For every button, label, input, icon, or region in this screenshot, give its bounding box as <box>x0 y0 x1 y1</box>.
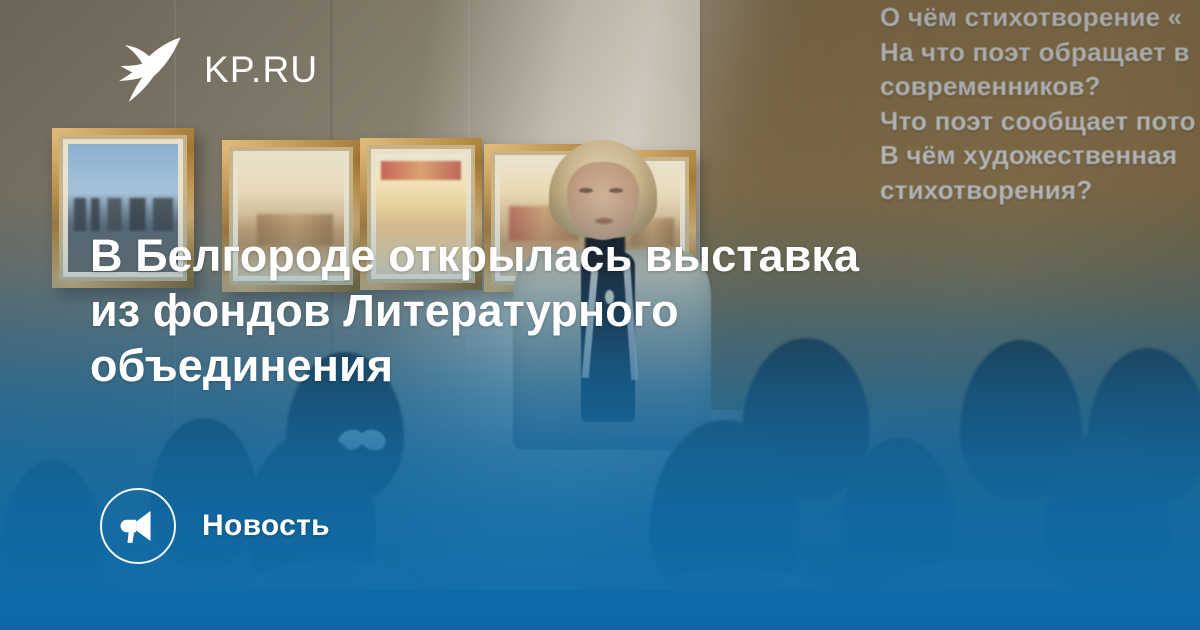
brand-name: KP.RU <box>204 51 318 88</box>
blue-bottom-band <box>0 590 1200 630</box>
brand-lockup[interactable]: KP.RU <box>108 33 318 105</box>
headline-line: из фондов Литературного <box>90 283 1090 338</box>
headline-line: объединения <box>90 338 1090 393</box>
megaphone-icon <box>100 488 176 564</box>
headline: В Белгороде открылась выставка из фондов… <box>90 228 1090 393</box>
social-share-card: О чём стихотворение « На что поэт обраща… <box>0 0 1200 630</box>
swallow-bird-logo-icon <box>108 33 184 105</box>
headline-line: В Белгороде открылась выставка <box>90 228 1090 283</box>
news-category-badge[interactable]: Новость <box>100 488 330 564</box>
badge-label: Новость <box>202 509 330 543</box>
